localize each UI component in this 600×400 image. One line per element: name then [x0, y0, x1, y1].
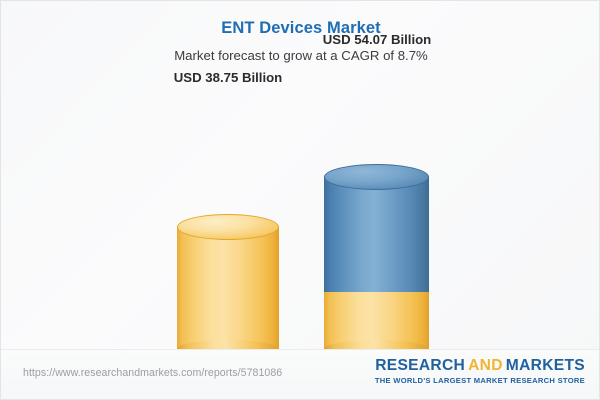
bar-2030[interactable] [324, 164, 429, 349]
value-label-2026: USD 38.75 Billion [151, 70, 305, 85]
chart-footer: https://www.researchandmarkets.com/repor… [1, 349, 600, 399]
bar-group-2026: USD 38.75 Billion 2026 [177, 42, 279, 349]
plot-area: USD 38.75 Billion 2026 USD 54.07 Billion [1, 1, 600, 349]
logo-word-and: AND [465, 357, 506, 374]
logo-wordmark: RESEARCHANDMARKETS [375, 358, 585, 374]
research-and-markets-logo[interactable]: RESEARCHANDMARKETS THE WORLD'S LARGEST M… [375, 358, 585, 385]
logo-word-markets: MARKETS [506, 357, 585, 374]
bar-2026[interactable] [177, 214, 279, 349]
logo-word-research: RESEARCH [375, 357, 465, 374]
chart-card: ENT Devices Market Market forecast to gr… [0, 0, 600, 400]
bar-segment-base-2026 [177, 227, 279, 349]
bar-top-cap-2026 [177, 214, 279, 240]
value-label-2030: USD 54.07 Billion [300, 32, 454, 47]
bar-group-2030: USD 54.07 Billion 2030 [324, 42, 429, 349]
bar-top-cap-2030 [324, 164, 429, 190]
logo-tagline: THE WORLD'S LARGEST MARKET RESEARCH STOR… [375, 376, 585, 385]
bar-segment-growth-2030 [324, 177, 429, 292]
source-url[interactable]: https://www.researchandmarkets.com/repor… [23, 367, 282, 379]
